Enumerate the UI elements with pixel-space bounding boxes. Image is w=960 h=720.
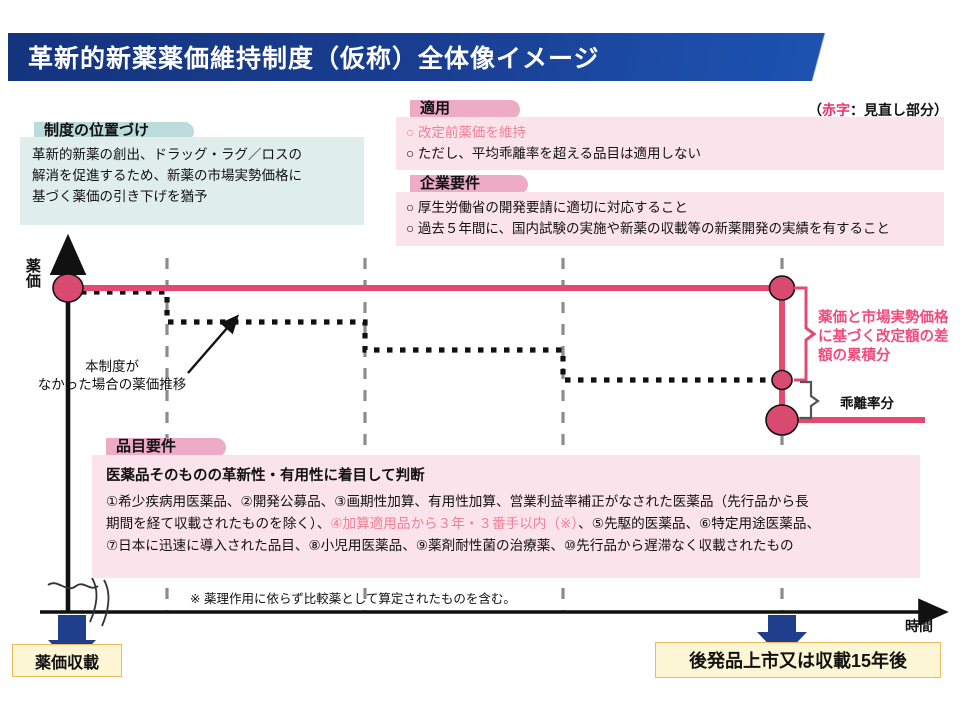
company-requirements-box: ○ 厚生労働省の開発要請に適切に対応すること ○ 過去５年間に、国内試験の実施や… [396,192,944,246]
marker-listing-price [53,274,83,302]
title-bar-angle-cut [652,33,952,81]
y-axis-label: 薬価 [22,258,42,292]
page-title: 革新的新薬薬価維持制度（仮称）全体像イメージ [28,39,600,75]
item-requirements-box: 医薬品そのものの革新性・有用性に着目して判断 ①希少疾病用医薬品、②開発公募品、… [92,455,920,578]
item-line-2: 期間を経て収載されたものを除く）、④加算適用品から３年・３番手以内（※）、⑤先駆… [106,513,906,535]
y-axis-label-text: 薬価 [24,258,40,288]
callout-generic-launch: 後発品上市又は収載15年後 [655,642,941,678]
left-chart-annotation: 本制度が なかった場合の薬価推移 [22,358,202,394]
marker-maintained-end [770,276,795,300]
application-bullet-2-text: ただし、平均乖離率を超える品目は適用しない [418,146,701,161]
legend-rest: ：見直し部分） [850,102,948,118]
callout-drug-listing: 薬価収載 [12,644,122,677]
item-requirements-body: ①希少疾病用医薬品、②開発公募品、③画期性加算、有用性加算、営業利益率補正がなさ… [106,491,906,557]
left-annotation-line-1: 本制度が [22,358,202,376]
marker-no-system-end [772,371,792,390]
positioning-line-3: 基づく薬価の引き下げを猶予 [32,187,352,208]
series-maintained-price [68,288,925,420]
cumulative-difference-label: 薬価と市場実勢価格に基づく改定額の差額の累積分 [818,309,950,366]
company-bullet-2-marker: ○ [406,221,414,236]
application-bullet-1: ○ 改定前薬価を維持 [406,123,934,144]
item-line-3: ⑦日本に迅速に導入された品目、⑧小児用医薬品、⑨薬剤耐性菌の治療薬、⑩先行品から… [106,535,906,557]
application-box: ○ 改定前薬価を維持 ○ ただし、平均乖離率を超える品目は適用しない [396,117,944,170]
company-requirements-title: 企業要件 [420,172,480,193]
item-line-2-part-a: 期間を経て収載されたものを除く）、 [106,516,330,531]
brace-deviation-rate [800,382,818,418]
item-requirements-heading: 医薬品そのものの革新性・有用性に着目して判断 [106,464,906,485]
brace-cumulative-difference [794,288,814,380]
application-bullet-2: ○ ただし、平均乖離率を超える品目は適用しない [406,144,934,165]
company-bullet-2: ○ 過去５年間に、国内試験の実施や新薬の収載等の新薬開発の実績を有すること [406,219,934,240]
chart-footnote: ※ 薬理作用に依らず比較薬として算定されたものを含む。 [190,588,516,607]
chart-markers [53,274,798,435]
page-title-bar: 革新的新薬薬価維持制度（仮称）全体像イメージ [8,33,952,81]
left-annotation-line-2: なかった場合の薬価推移 [22,376,202,394]
positioning-line-1: 革新的新薬の創出、ドラッグ・ラグ／ロスの [32,145,352,166]
item-line-1: ①希少疾病用医薬品、②開発公募品、③画期性加算、有用性加算、営業利益率補正がなさ… [106,491,906,513]
company-bullet-1-text: 厚生労働省の開発要請に適切に対応すること [418,200,688,215]
axis-break-squiggle [48,578,108,626]
x-axis-label: 時間 [905,616,933,636]
legend-open-paren: （ [808,102,822,118]
legend-red-word: 赤字 [822,102,850,118]
item-requirements-title: 品目要件 [116,435,176,456]
item-line-2-part-b: 、⑤先駆的医薬品、⑥特定用途医薬品、 [578,516,820,531]
positioning-line-2: 解消を促進するため、新薬の市場実勢価格に [32,166,352,187]
deviation-rate-label: 乖離率分 [840,392,894,412]
application-bullet-1-text: 改定前薬価を維持 [418,125,526,140]
application-box-title: 適用 [420,97,450,118]
marker-revised-price [766,405,798,435]
application-bullet-1-marker: ○ [406,125,414,140]
company-bullet-2-text: 過去５年間に、国内試験の実施や新薬の収載等の新薬開発の実績を有すること [418,221,890,236]
application-bullet-2-marker: ○ [406,146,414,161]
item-line-2-red: ④加算適用品から３年・３番手以内（※） [330,516,578,531]
company-bullet-1-marker: ○ [406,200,414,215]
positioning-box: 革新的新薬の創出、ドラッグ・ラグ／ロスの 解消を促進するため、新薬の市場実勢価格… [20,137,364,225]
company-bullet-1: ○ 厚生労働省の開発要請に適切に対応すること [406,198,934,219]
